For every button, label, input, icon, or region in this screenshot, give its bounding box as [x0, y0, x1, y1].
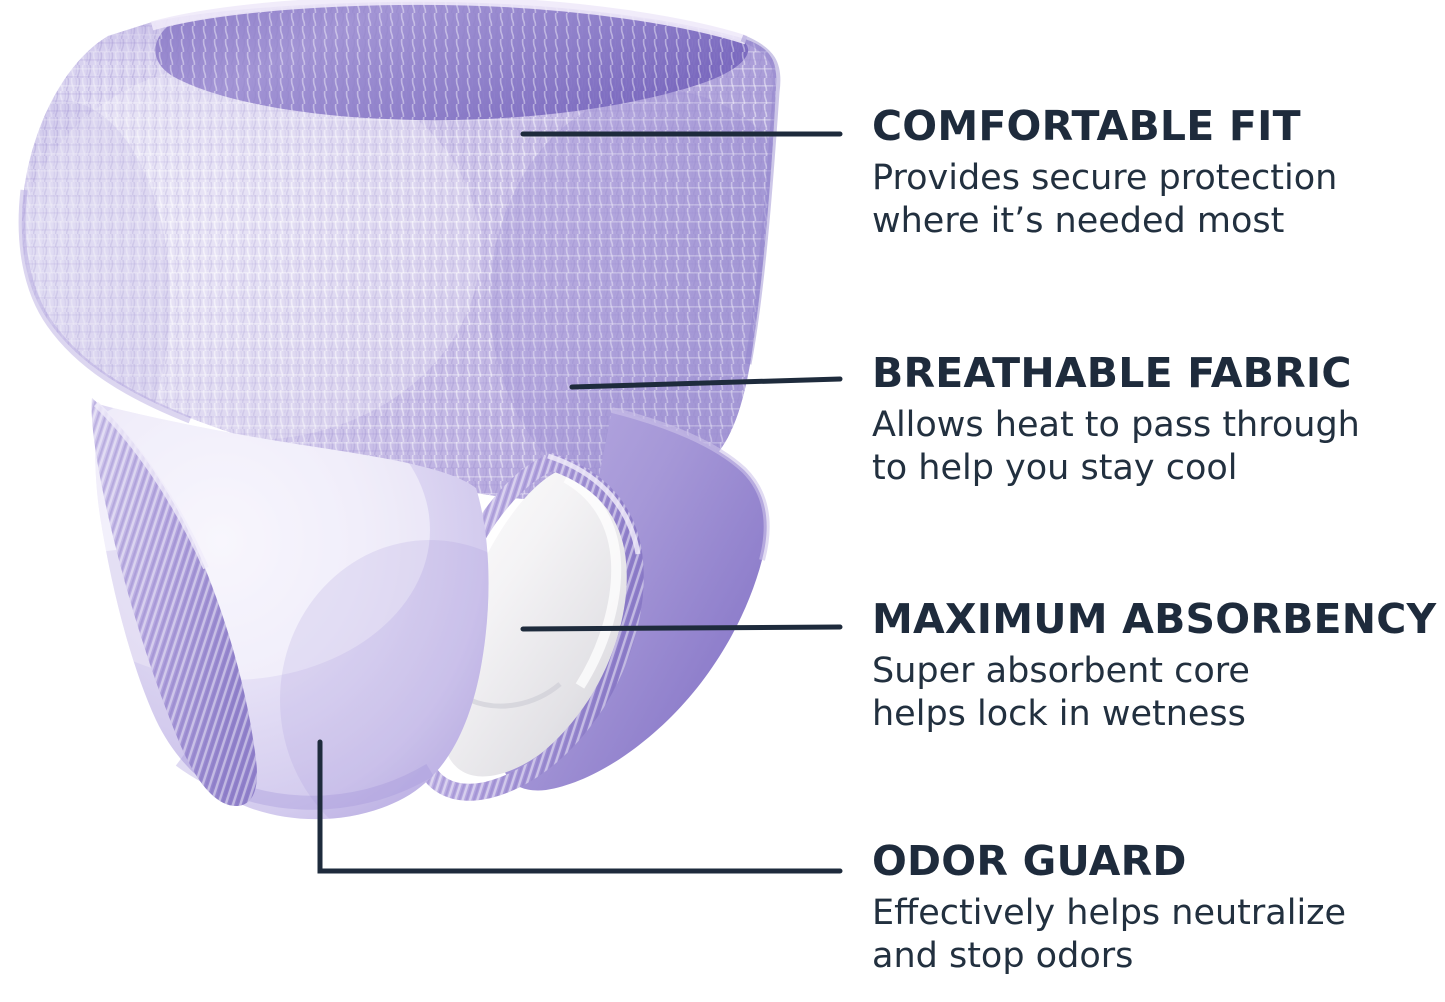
callout-maximum-absorbency: MAXIMUM ABSORBENCY Super absorbent core …	[872, 598, 1445, 737]
product-feature-infographic: COMFORTABLE FIT Provides secure protecti…	[0, 0, 1445, 1002]
callout-title: BREATHABLE FABRIC	[872, 352, 1445, 395]
callout-body-line: Super absorbent core	[872, 650, 1445, 693]
callout-title: COMFORTABLE FIT	[872, 105, 1445, 148]
callout-body-line: to help you stay cool	[872, 447, 1445, 490]
callout-body: Provides secure protection where it’s ne…	[872, 157, 1445, 244]
callout-body: Allows heat to pass through to help you …	[872, 404, 1445, 491]
product-image	[0, 0, 860, 1002]
callout-body-line: Allows heat to pass through	[872, 404, 1445, 447]
callout-title: ODOR GUARD	[872, 840, 1445, 883]
callout-body-line: Provides secure protection	[872, 157, 1445, 200]
callout-comfortable-fit: COMFORTABLE FIT Provides secure protecti…	[872, 105, 1445, 244]
callout-body-line: and stop odors	[872, 935, 1445, 978]
callout-title: MAXIMUM ABSORBENCY	[872, 598, 1445, 641]
callout-breathable-fabric: BREATHABLE FABRIC Allows heat to pass th…	[872, 352, 1445, 491]
callout-body: Super absorbent core helps lock in wetne…	[872, 650, 1445, 737]
callout-odor-guard: ODOR GUARD Effectively helps neutralize …	[872, 840, 1445, 979]
callout-body-line: Effectively helps neutralize	[872, 892, 1445, 935]
callout-body: Effectively helps neutralize and stop od…	[872, 892, 1445, 979]
callout-body-line: where it’s needed most	[872, 200, 1445, 243]
callout-body-line: helps lock in wetness	[872, 693, 1445, 736]
